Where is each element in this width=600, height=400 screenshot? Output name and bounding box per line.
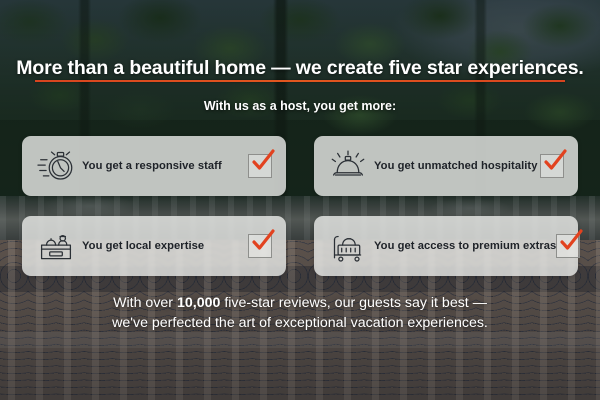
luggage-cart-icon	[326, 226, 370, 266]
benefit-label: You get local expertise	[78, 240, 248, 252]
review-count: 10,000	[177, 295, 220, 311]
testimonial-prefix: With over	[113, 295, 177, 311]
checkbox-responsive-staff[interactable]	[248, 154, 272, 178]
benefit-card-local-expertise[interactable]: You get local expertise	[22, 216, 286, 276]
benefit-card-responsive-staff[interactable]: You get a responsive staff	[22, 136, 286, 196]
benefit-label: You get a responsive staff	[78, 160, 248, 172]
reception-desk-icon	[34, 226, 78, 266]
title-underline-rule	[35, 80, 565, 82]
testimonial-suffix: five-star reviews, our guests say it bes…	[220, 295, 487, 311]
benefit-card-unmatched-hospitality[interactable]: You get unmatched hospitality	[314, 136, 578, 196]
checkbox-local-expertise[interactable]	[248, 234, 272, 258]
checkbox-premium-extras[interactable]	[556, 234, 580, 258]
testimonial-statement: With over 10,000 five-star reviews, our …	[0, 293, 600, 333]
benefit-card-premium-extras[interactable]: You get access to premium extras	[314, 216, 578, 276]
banner-content: More than a beautiful home — we create f…	[0, 0, 600, 400]
testimonial-line-1: With over 10,000 five-star reviews, our …	[0, 293, 600, 313]
benefit-label: You get unmatched hospitality	[370, 160, 540, 172]
stopwatch-icon	[34, 146, 78, 186]
benefit-card-grid: You get a responsive staff	[22, 136, 578, 276]
page-title: More than a beautiful home — we create f…	[0, 57, 600, 80]
checkbox-unmatched-hospitality[interactable]	[540, 154, 564, 178]
subheading: With us as a host, you get more:	[0, 99, 600, 113]
promo-banner: More than a beautiful home — we create f…	[0, 0, 600, 400]
benefit-label: You get access to premium extras	[370, 240, 556, 252]
service-bell-icon	[326, 146, 370, 186]
testimonial-line-2: we've perfected the art of exceptional v…	[0, 313, 600, 333]
